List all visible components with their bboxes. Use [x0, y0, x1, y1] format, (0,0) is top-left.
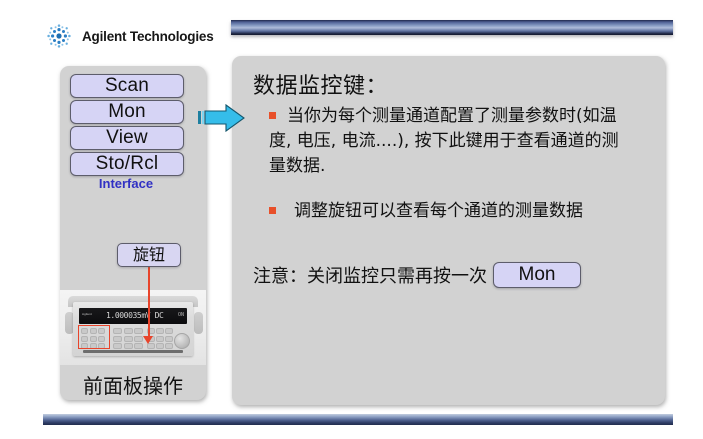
note-row: 注意：关闭监控只需再按一次 Mon: [253, 262, 581, 288]
bullet-square-icon: [269, 207, 276, 214]
brand-name: Agilent Technologies: [82, 29, 214, 44]
footer-accent-bar: [43, 414, 673, 425]
bullet-text-2: 调整旋钮可以查看每个通道的测量数据: [294, 201, 583, 221]
key-scan[interactable]: Scan: [70, 74, 184, 98]
key-mon[interactable]: Mon: [70, 100, 184, 124]
instrument-grille: [83, 350, 183, 353]
interface-label: Interface: [70, 176, 182, 191]
bullet-text-1: 当你为每个测量通道配置了测量参数时(如温度, 电压, 电流....), 按下此键…: [269, 106, 619, 176]
bullet-item-2: 调整旋钮可以查看每个通道的测量数据: [269, 199, 624, 224]
bullet-item-1: 当你为每个测量通道配置了测量参数时(如温度, 电压, 电流....), 按下此键…: [269, 104, 624, 179]
note-key-mon[interactable]: Mon: [493, 262, 581, 288]
instrument-display: Agilent 1.000035mV DC ON: [79, 308, 187, 324]
key-sto-rcl[interactable]: Sto/Rcl: [70, 152, 184, 176]
instrument-annunciator: ON: [178, 312, 184, 318]
header-accent-bar: [231, 20, 673, 35]
slide-canvas: Agilent Technologies Scan Mon View Sto/R…: [0, 0, 703, 439]
page-title: 数据监控键：: [253, 68, 388, 100]
key-view[interactable]: View: [70, 126, 184, 150]
agilent-logo: Agilent Technologies: [42, 19, 232, 53]
knob-callout-label: 旋钮: [117, 243, 181, 267]
instrument-body: Agilent 1.000035mV DC ON: [73, 302, 193, 356]
agilent-starburst-icon: [42, 19, 76, 53]
knob-callout-arrow-icon: [143, 336, 153, 344]
instrument-brand-text: Agilent: [82, 312, 92, 316]
right-arrow-icon: [198, 103, 246, 133]
note-text: 注意：关闭监控只需再按一次: [253, 262, 487, 288]
instrument-knob: [174, 333, 190, 349]
bullet-square-icon: [269, 112, 276, 119]
instrument-reading: 1.000035mV DC: [106, 311, 163, 320]
front-panel-caption: 前面板操作: [60, 370, 206, 399]
instrument-highlight-box: [78, 325, 110, 349]
instrument-keypad-center: [113, 328, 143, 349]
knob-callout-line: [148, 265, 150, 340]
instrument-foot-right: [194, 312, 203, 334]
instrument-photo: Agilent 1.000035mV DC ON: [60, 290, 206, 365]
